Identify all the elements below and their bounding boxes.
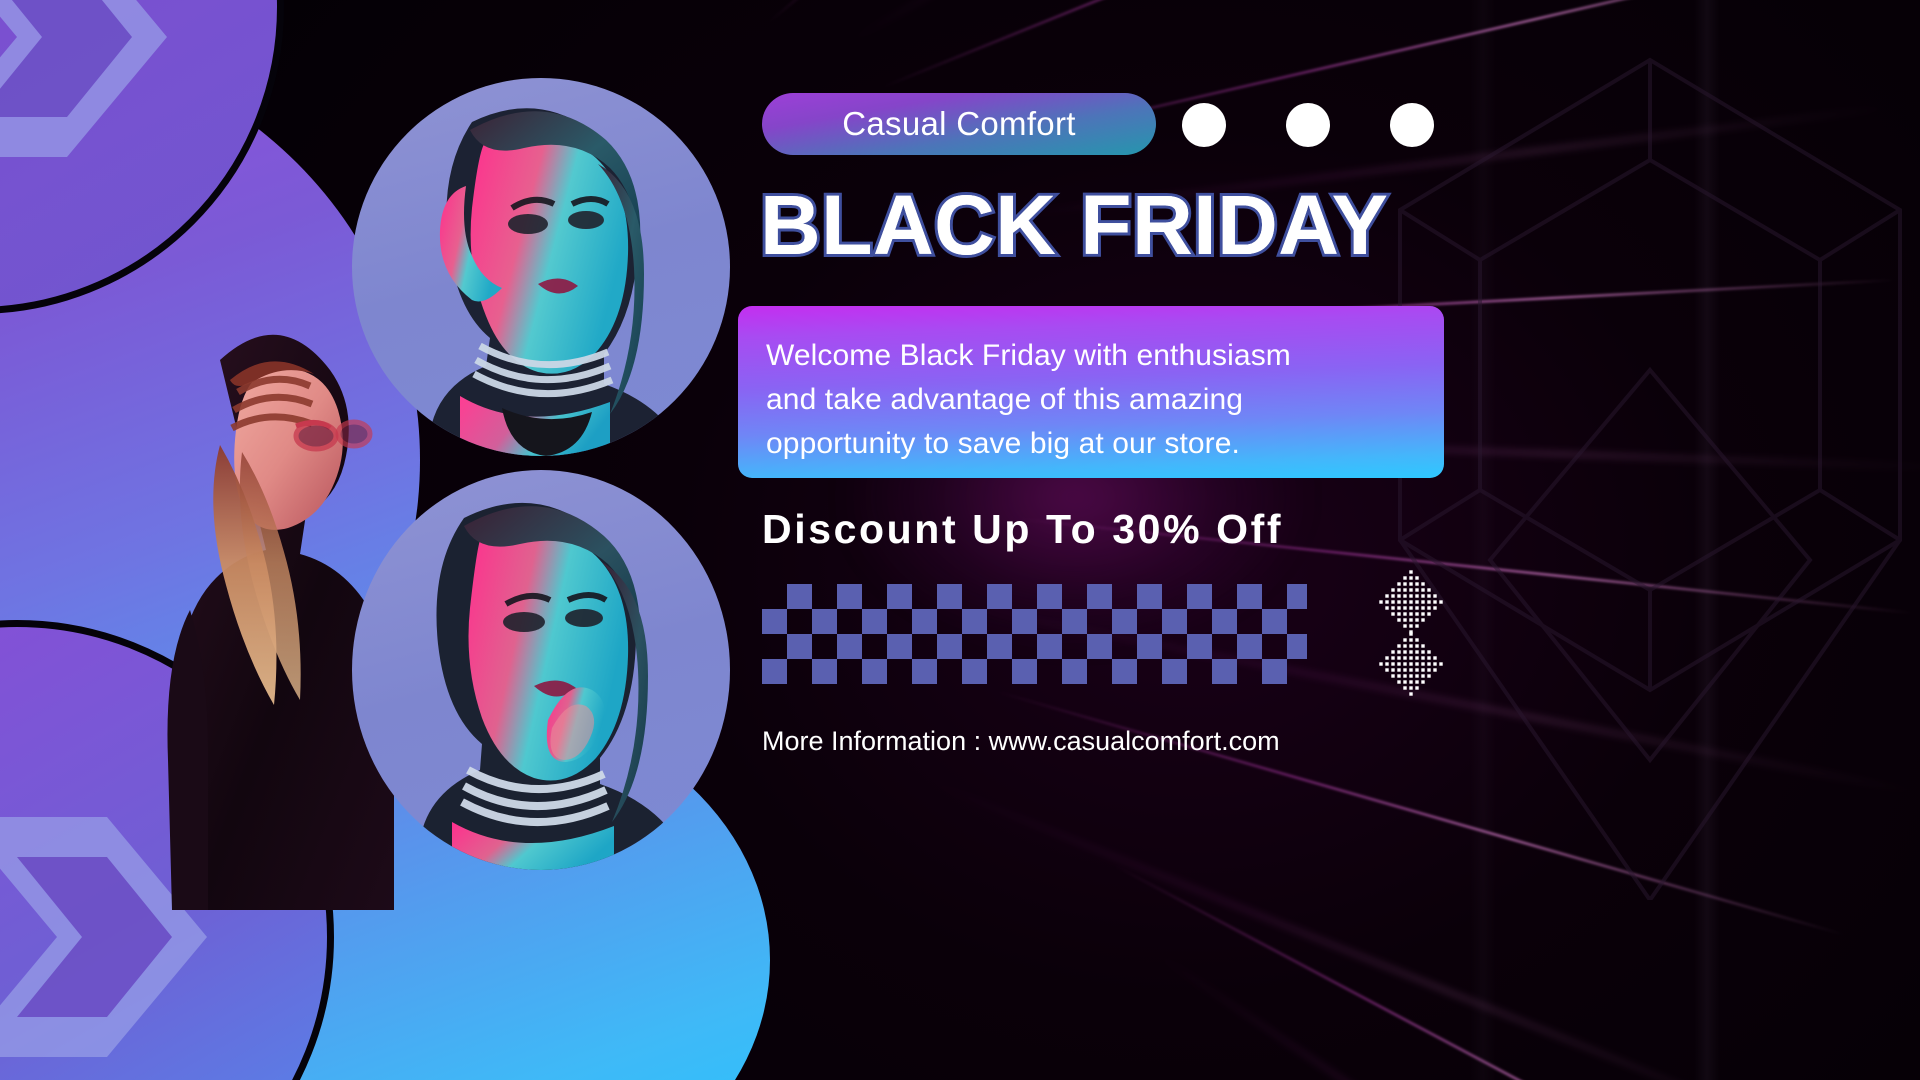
brand-badge[interactable]: Casual Comfort	[762, 93, 1156, 155]
discount-headline: Discount Up To 30% Off	[762, 506, 1462, 553]
checkerboard-decor	[762, 584, 1322, 694]
dot-indicator-2[interactable]	[1286, 103, 1330, 147]
portrait-circle-top	[352, 78, 730, 456]
dot-indicator-1[interactable]	[1182, 103, 1226, 147]
black-friday-banner: Casual Comfort BLACK FRIDAY BLACK FRIDAY…	[0, 0, 1920, 1080]
dot-indicator-3[interactable]	[1390, 103, 1434, 147]
content-column: Casual Comfort BLACK FRIDAY BLACK FRIDAY…	[756, 0, 1456, 1080]
more-information-text: More Information : www.casualcomfort.com	[762, 726, 1462, 757]
checkerboard-block-2	[1062, 584, 1307, 684]
brand-badge-label: Casual Comfort	[842, 105, 1075, 143]
portrait-circle-bottom	[352, 470, 730, 870]
promo-paragraph: Welcome Black Friday with enthusiasm and…	[738, 306, 1444, 478]
promo-line-2: and take advantage of this amazing	[766, 378, 1434, 422]
page-title: BLACK FRIDAY	[760, 183, 1460, 267]
checkerboard-block-1	[762, 584, 1092, 684]
dotted-diamond-icon	[1366, 568, 1456, 698]
promo-line-1: Welcome Black Friday with enthusiasm	[766, 334, 1434, 378]
promo-line-3: opportunity to save big at our store.	[766, 422, 1434, 466]
dot-indicators	[1182, 103, 1442, 149]
